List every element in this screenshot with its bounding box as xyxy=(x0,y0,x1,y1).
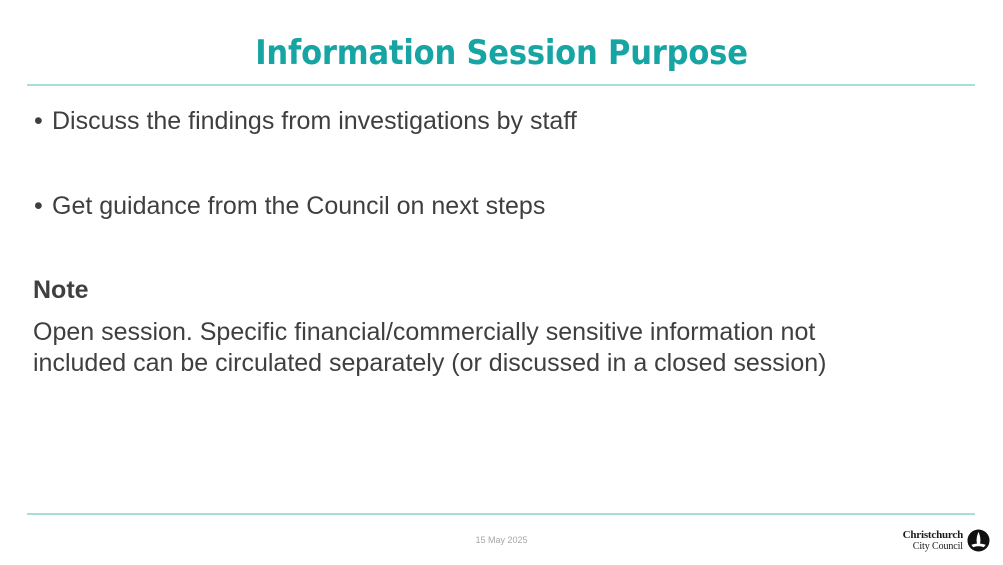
list-item-label: Discuss the findings from investigations… xyxy=(52,107,577,135)
list-item: • Discuss the findings from investigatio… xyxy=(33,104,933,138)
slide-body: • Discuss the findings from investigatio… xyxy=(33,104,933,379)
footer-date: 15 May 2025 xyxy=(0,534,1003,546)
council-emblem-icon xyxy=(967,529,990,552)
presentation-slide: Information Session Purpose • Discuss th… xyxy=(0,0,1003,565)
bullet-list: • Discuss the findings from investigatio… xyxy=(33,104,933,223)
note-heading: Note xyxy=(33,274,933,306)
note-body-text: Open session. Specific financial/commerc… xyxy=(33,317,869,379)
footer-divider-bottom xyxy=(27,513,975,515)
council-logo: Christchurch City Council xyxy=(903,529,990,552)
page-title: Information Session Purpose xyxy=(0,32,1003,74)
bullet-marker-icon: • xyxy=(34,189,43,223)
note-block: Note Open session. Specific financial/co… xyxy=(33,274,933,379)
logo-line-city-council: City Council xyxy=(903,541,963,552)
list-item: • Get guidance from the Council on next … xyxy=(33,189,933,223)
bullet-marker-icon: • xyxy=(34,104,43,138)
title-divider-top xyxy=(27,84,975,86)
list-item-label: Get guidance from the Council on next st… xyxy=(52,192,545,220)
logo-line-christchurch: Christchurch xyxy=(903,529,963,541)
logo-wordmark: Christchurch City Council xyxy=(903,529,963,552)
